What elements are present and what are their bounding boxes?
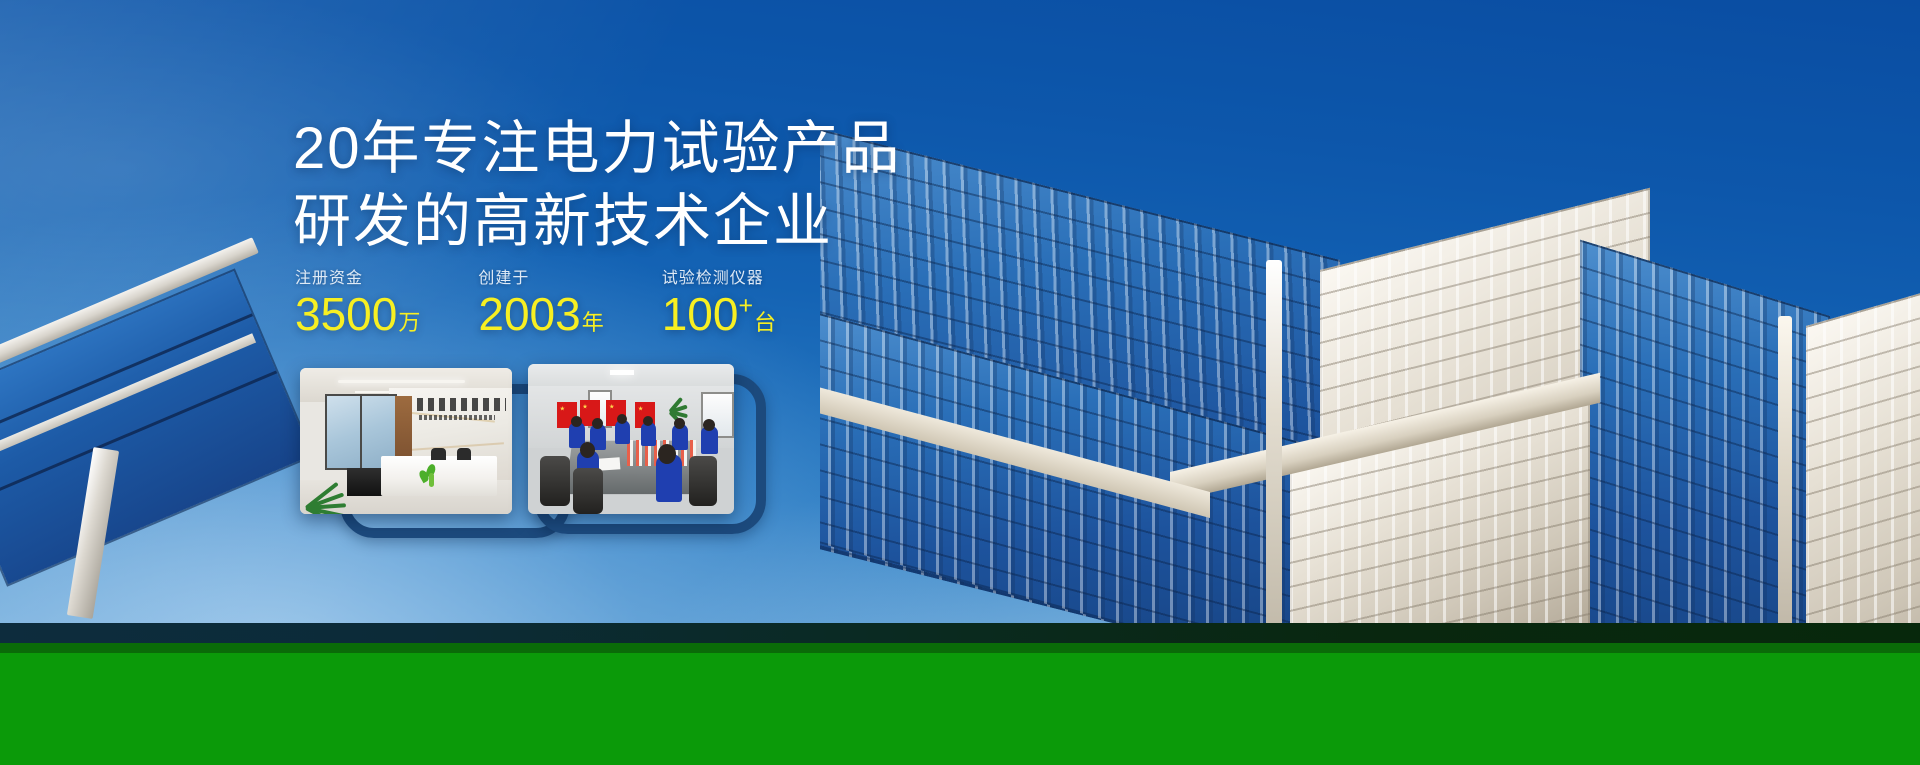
lobby-ceiling-light — [338, 380, 465, 383]
stat-unit: 万 — [398, 310, 420, 335]
meeting-chair — [540, 456, 570, 506]
meeting-chair — [573, 468, 603, 514]
stat-label: 创建于 — [478, 264, 603, 288]
stat-number: 100 — [662, 288, 739, 340]
lobby-company-logo — [419, 464, 443, 490]
attendee-head — [592, 418, 603, 429]
stat-test-instruments: 试验检测仪器 100+台 — [662, 264, 776, 338]
lobby-company-name-en — [419, 415, 495, 420]
stat-registered-capital: 注册资金 3500万 — [295, 264, 420, 338]
stat-value: 100+台 — [662, 290, 776, 338]
lobby-chair-1 — [431, 448, 446, 460]
headline-line-2: 研发的高新技术企业 — [293, 185, 902, 258]
stat-unit: 台 — [754, 310, 776, 335]
stat-number: 3500 — [295, 288, 397, 340]
meeting-ceiling-light — [610, 370, 634, 375]
attendee-head — [658, 444, 676, 464]
flag-star — [609, 404, 614, 409]
tower-floor-lines — [1580, 240, 1830, 650]
green-footer-band — [0, 653, 1920, 765]
photo-office-lobby — [300, 368, 512, 514]
stat-value: 3500万 — [295, 290, 420, 338]
flag-star — [560, 406, 565, 411]
meeting-chair — [689, 456, 717, 506]
attendee-head — [580, 442, 595, 458]
photo-meeting-room — [528, 364, 734, 514]
stat-label: 试验检测仪器 — [662, 264, 776, 288]
building-ridge-b — [1778, 316, 1792, 650]
stat-label: 注册资金 — [295, 264, 420, 288]
headline-line-1: 20年专注电力试验产品 — [293, 112, 902, 185]
stat-value: 2003年 — [478, 290, 603, 338]
stat-number: 2003 — [478, 288, 580, 340]
attendee-head — [617, 414, 627, 424]
office-lobby-scene — [300, 368, 512, 514]
left-glass-building — [0, 330, 300, 590]
stats-row: 注册资金 3500万 创建于 2003年 试验检测仪器 100+台 — [295, 264, 776, 338]
navy-divider-band — [0, 623, 1920, 645]
flag-star — [583, 404, 588, 409]
banner-headline: 20年专注电力试验产品 研发的高新技术企业 — [293, 112, 902, 258]
lobby-palm-plant — [300, 456, 368, 514]
lobby-company-name-cn — [417, 398, 506, 411]
attendee-head — [703, 419, 715, 431]
stat-founded-year: 创建于 2003年 — [478, 264, 603, 338]
hero-banner: 20年专注电力试验产品 研发的高新技术企业 注册资金 3500万 创建于 200… — [0, 0, 1920, 765]
building-ridge-a — [1266, 260, 1282, 650]
stat-superscript: + — [738, 292, 753, 320]
tower-peak-b-left — [1580, 240, 1830, 650]
meeting-room-scene — [528, 364, 734, 514]
flag-star — [638, 406, 643, 411]
tower-floor-lines — [1806, 263, 1920, 650]
right-building-cluster — [820, 120, 1920, 650]
lobby-chair-2 — [457, 448, 471, 460]
tower-peak-b-right — [1806, 263, 1920, 650]
stat-unit: 年 — [582, 310, 604, 335]
logo-stem — [429, 473, 434, 487]
lobby-wood-door — [395, 396, 412, 462]
